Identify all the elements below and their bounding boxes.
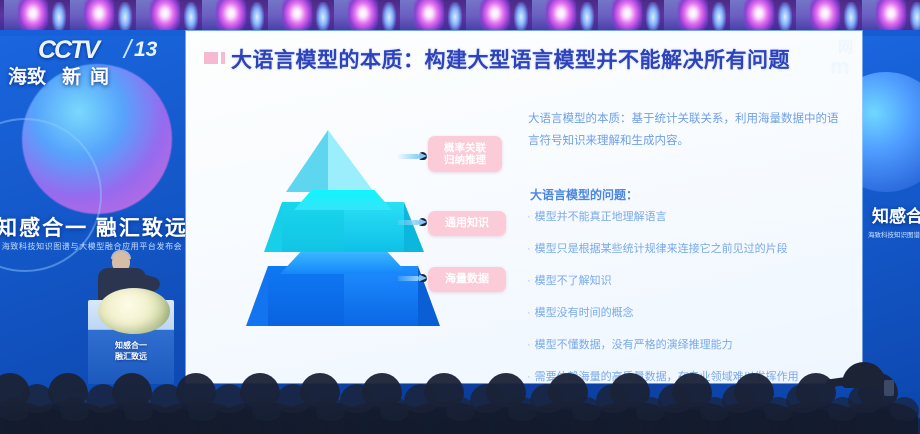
list-bullet-icon: · [527, 211, 531, 223]
stage-light-icon [150, 0, 180, 32]
pyramid-badge-bottom: 海量数据 [428, 267, 506, 292]
problems-heading: 大语言模型的问题： [530, 186, 638, 203]
podium-label-line1: 知感合一 [88, 340, 174, 351]
problems-list: ·模型并不能真正地理解语言·模型只是根据某些统计规律来连接它之前见过的片段·模型… [527, 210, 857, 402]
problem-item-label: 模型不了解知识 [535, 275, 612, 287]
backdrop-left-subslogan: 海致科技知识图谱与大模型融合应用平台发布会 [0, 241, 186, 252]
square-bullet-secondary-icon [221, 52, 225, 64]
stage-light-blue-icon [52, 2, 66, 32]
stage-light-blue-icon [184, 2, 198, 32]
problem-item-label: 模型不懂数据，没有严格的演绎推理能力 [535, 339, 733, 351]
list-bullet-icon: · [527, 243, 531, 255]
backdrop-right-slogan: 知感合一 [872, 202, 920, 227]
stage-light-blue-icon [778, 2, 792, 32]
stage-light-icon [84, 0, 114, 32]
stage-light-icon [480, 0, 510, 32]
list-bullet-icon: · [527, 307, 531, 319]
problem-item: ·模型只是根据某些统计规律来连接它之前见过的片段 [527, 242, 857, 256]
podium-label: 知感合一 融汇致远 [88, 340, 174, 362]
backdrop-right-subslogan: 海致科技知识图谱 [868, 229, 920, 239]
stage-light-blue-icon [448, 2, 462, 32]
gradient-orb-right-icon [862, 72, 920, 192]
stage-light-icon [810, 0, 840, 32]
problem-item: ·模型没有时间的概念 [527, 306, 857, 320]
stage-light-icon [414, 0, 444, 32]
stage-light-icon [612, 0, 642, 32]
stage-light-blue-icon [646, 2, 660, 32]
problem-item-label: 模型没有时间的概念 [535, 307, 634, 319]
stage-light-icon [216, 0, 246, 32]
stage-light-blue-icon [316, 2, 330, 32]
list-bullet-icon: · [527, 339, 531, 351]
problem-item-label: 模型只是根据某些统计规律来连接它之前见过的片段 [535, 243, 788, 255]
stage-light-blue-icon [514, 2, 528, 32]
stage-light-blue-icon [250, 2, 264, 32]
slide-title: 大语言模型的本质：构建大型语言模型并不能解决所有问题 [231, 44, 831, 74]
stage-light-icon [678, 0, 708, 32]
stage-light-icon [348, 0, 378, 32]
problem-item: ·模型并不能真正地理解语言 [527, 210, 857, 224]
essence-paragraph: 大语言模型的本质：基于统计关联关系，利用海量数据中的语言符号知识来理解和生成内容… [528, 108, 846, 152]
pyramid-badge-top-line1: 概率关联 [437, 142, 493, 154]
stage-light-blue-icon [382, 2, 396, 32]
problem-item-label: 需要依赖海量的高质量数据，在专业领域难以发挥作用 [535, 371, 799, 383]
sponsor-watermark: 海致 [8, 62, 46, 89]
corner-watermark-line2: m [830, 54, 850, 80]
stage-light-blue-icon [580, 2, 594, 32]
stage-light-truss [0, 0, 920, 34]
pyramid-tier-top-left-face [286, 130, 328, 192]
stage-light-blue-icon [844, 2, 858, 32]
pyramid-badge-top-line2: 归纳推理 [437, 154, 493, 166]
stage-light-icon [744, 0, 774, 32]
pyramid-badge-middle: 通用知识 [428, 211, 506, 236]
cctv-slash-icon: / [124, 34, 131, 65]
broadcast-frame: 知感合一 融汇致远 海致科技知识图谱与大模型融合应用平台发布会 知感合一 海致科… [0, 0, 920, 434]
pyramid-tier-top-right-face [328, 130, 374, 192]
stage-light-blue-icon [910, 2, 920, 32]
list-bullet-icon: · [527, 275, 531, 287]
flower-arrangement [98, 288, 170, 334]
stage-light-blue-icon [712, 2, 726, 32]
pyramid-badge-top: 概率关联 归纳推理 [428, 136, 502, 172]
stage-light-icon [546, 0, 576, 32]
cctv-logo: CCTV [38, 36, 98, 65]
stage-light-icon [876, 0, 906, 32]
list-bullet-icon: · [527, 371, 531, 383]
cctv-channel-sub: 新闻 [62, 62, 118, 89]
stage-light-blue-icon [118, 2, 132, 32]
backdrop-panel-right: 知感合一 海致科技知识图谱 [862, 36, 920, 392]
square-bullet-icon [204, 52, 218, 64]
problem-item: ·需要依赖海量的高质量数据，在专业领域难以发挥作用 [527, 370, 857, 384]
backdrop-left-slogan: 知感合一 融汇致远 [0, 212, 186, 242]
arrow-right-icon [398, 152, 426, 161]
arrow-right-icon [398, 218, 426, 227]
podium-label-line2: 融汇致远 [88, 351, 174, 362]
stage-light-icon [18, 0, 48, 32]
pyramid-tier-bottom [246, 252, 442, 326]
cctv-channel-number: 13 [134, 38, 157, 62]
stage-light-icon [282, 0, 312, 32]
problem-item: ·模型不了解知识 [527, 274, 857, 288]
channel-bug: CCTV / 13 新闻 海致 [14, 34, 186, 90]
problem-item: ·模型不懂数据，没有严格的演绎推理能力 [527, 338, 857, 352]
problem-item-label: 模型并不能真正地理解语言 [535, 211, 667, 223]
arrow-right-icon [398, 274, 426, 283]
